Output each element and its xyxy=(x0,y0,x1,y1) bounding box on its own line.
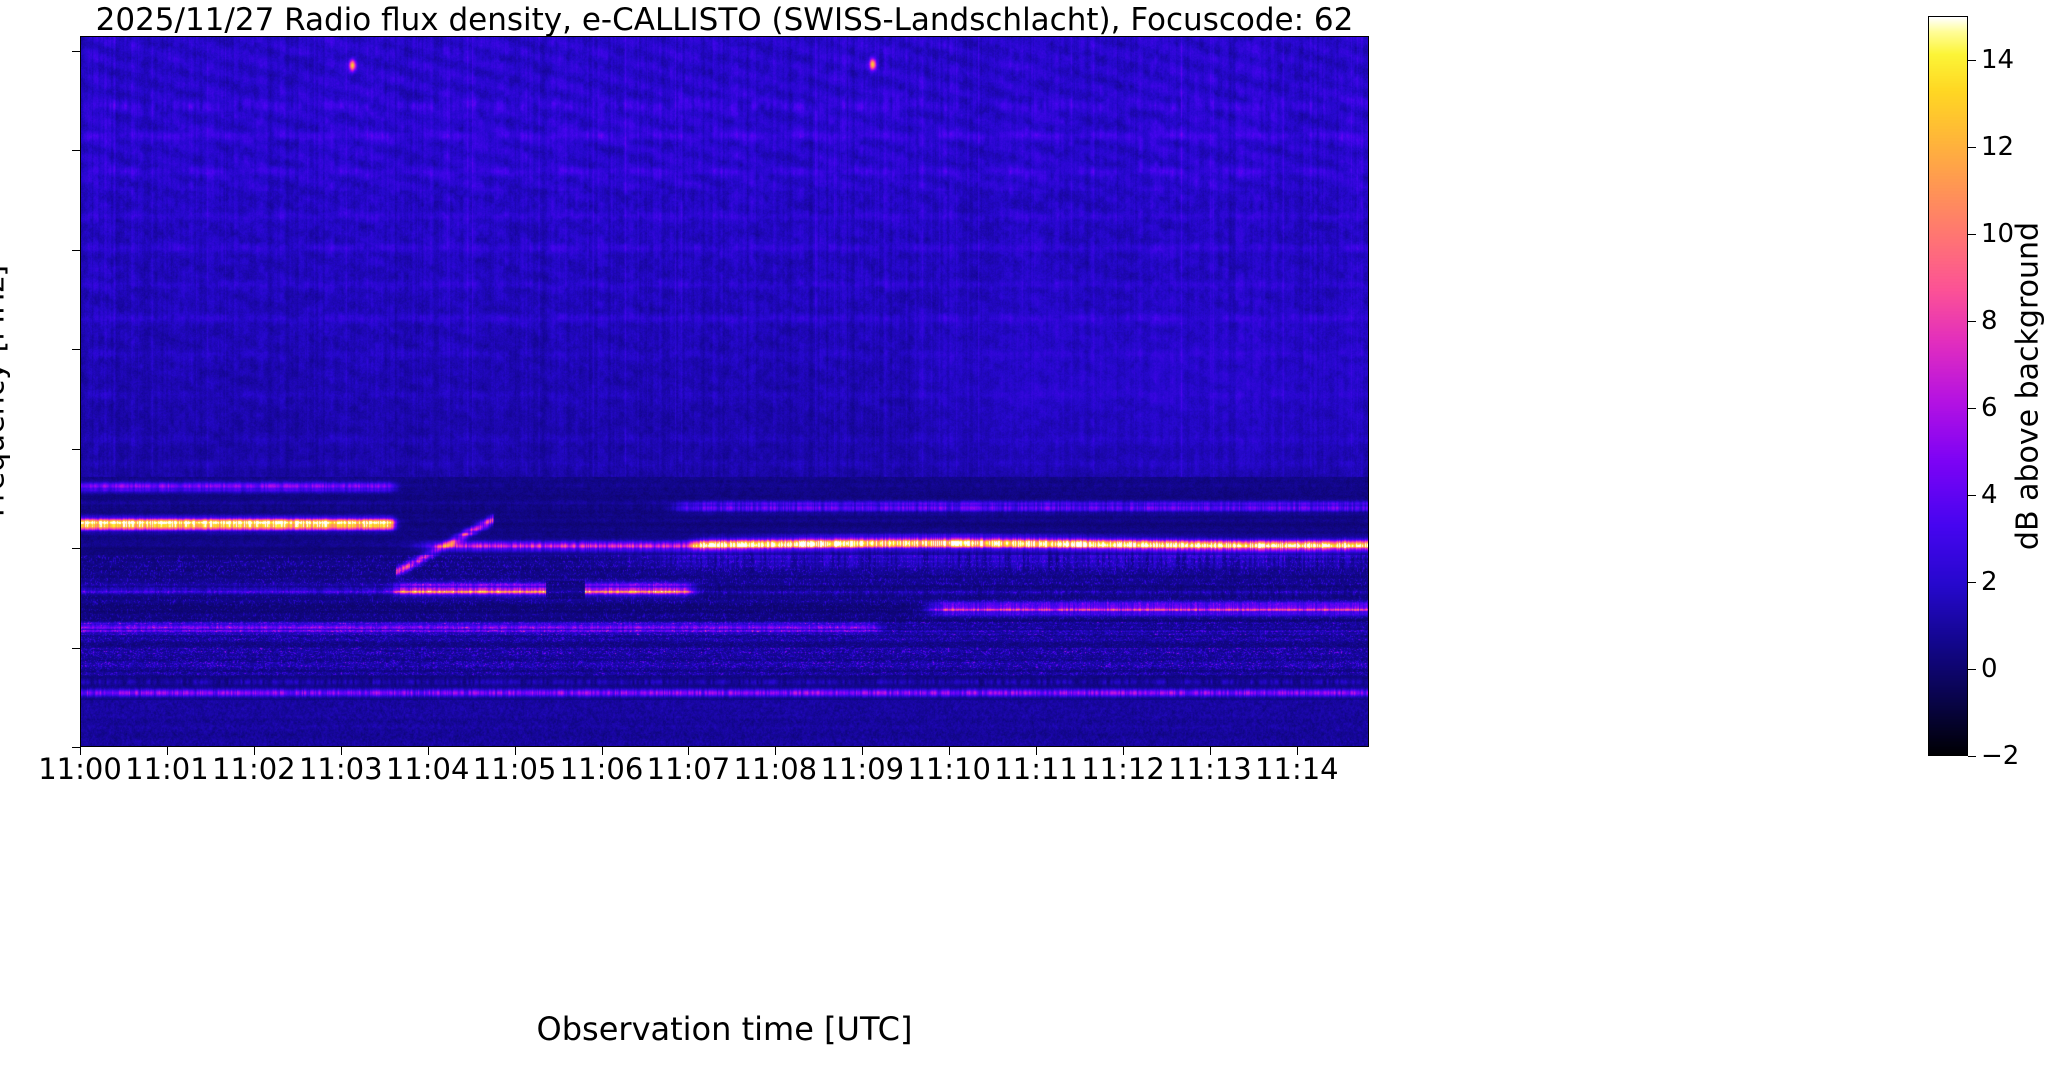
y-tick-mark xyxy=(72,349,80,350)
colorbar-tick-label: 2 xyxy=(1981,567,1998,597)
x-tick-mark xyxy=(688,747,689,755)
x-tick-mark xyxy=(341,747,342,755)
x-tick-mark xyxy=(775,747,776,755)
x-tick-label: 11:08 xyxy=(734,752,818,786)
colorbar-tick-mark xyxy=(1968,321,1976,322)
x-tick-label: 11:14 xyxy=(1255,752,1339,786)
colorbar-gradient xyxy=(1929,17,1967,755)
y-tick-mark xyxy=(72,747,80,748)
x-axis-label: Observation time [UTC] xyxy=(80,1010,1369,1048)
y-tick-mark xyxy=(72,548,80,549)
colorbar-tick-mark xyxy=(1968,669,1976,670)
x-tick-label: 11:06 xyxy=(560,752,644,786)
colorbar-label: dB above background xyxy=(2011,222,2046,550)
x-tick-label: 11:04 xyxy=(386,752,470,786)
x-tick-mark xyxy=(862,747,863,755)
x-tick-label: 11:11 xyxy=(994,752,1078,786)
colorbar-tick-mark xyxy=(1968,756,1976,757)
colorbar-tick-mark xyxy=(1968,408,1976,409)
x-tick-label: 11:00 xyxy=(38,752,122,786)
y-tick-mark xyxy=(72,449,80,450)
x-tick-mark xyxy=(1210,747,1211,755)
y-axis-label: Frequency [MHz] xyxy=(0,265,12,517)
x-tick-mark xyxy=(1036,747,1037,755)
x-tick-mark xyxy=(949,747,950,755)
colorbar-tick-label: 0 xyxy=(1981,654,1998,684)
y-tick-mark xyxy=(72,648,80,649)
colorbar-tick-label: 8 xyxy=(1981,306,1998,336)
x-tick-label: 11:13 xyxy=(1168,752,1252,786)
x-tick-mark xyxy=(428,747,429,755)
colorbar-tick-label: −2 xyxy=(1981,741,2019,771)
x-tick-mark xyxy=(167,747,168,755)
x-tick-mark xyxy=(80,747,81,755)
x-tick-label: 11:02 xyxy=(212,752,296,786)
x-tick-mark xyxy=(1297,747,1298,755)
x-tick-label: 11:09 xyxy=(820,752,904,786)
figure-canvas: 2025/11/27 Radio flux density, e-CALLIST… xyxy=(0,0,2047,1067)
x-tick-label: 11:10 xyxy=(907,752,991,786)
x-tick-label: 11:05 xyxy=(473,752,557,786)
colorbar-tick-mark xyxy=(1968,147,1976,148)
colorbar-tick-mark xyxy=(1968,60,1976,61)
y-tick-mark xyxy=(72,150,80,151)
colorbar-tick-mark xyxy=(1968,495,1976,496)
y-tick-mark xyxy=(72,51,80,52)
x-tick-label: 11:07 xyxy=(647,752,731,786)
x-tick-mark xyxy=(515,747,516,755)
colorbar-tick-mark xyxy=(1968,234,1976,235)
y-tick-mark xyxy=(72,250,80,251)
x-tick-label: 11:01 xyxy=(125,752,209,786)
colorbar-axes xyxy=(1928,16,1968,756)
colorbar-tick-mark xyxy=(1968,582,1976,583)
x-tick-mark xyxy=(602,747,603,755)
x-tick-mark xyxy=(254,747,255,755)
colorbar-tick-label: 10 xyxy=(1981,219,2014,249)
spectrogram-image xyxy=(81,37,1369,747)
x-tick-label: 11:03 xyxy=(299,752,383,786)
page-title: 2025/11/27 Radio flux density, e-CALLIST… xyxy=(80,2,1369,38)
x-tick-mark xyxy=(1123,747,1124,755)
colorbar-tick-label: 12 xyxy=(1981,132,2014,162)
colorbar-tick-label: 14 xyxy=(1981,45,2014,75)
x-tick-label: 11:12 xyxy=(1081,752,1165,786)
colorbar-tick-label: 4 xyxy=(1981,480,1998,510)
spectrogram-axes xyxy=(80,36,1369,747)
colorbar-tick-label: 6 xyxy=(1981,393,1998,423)
